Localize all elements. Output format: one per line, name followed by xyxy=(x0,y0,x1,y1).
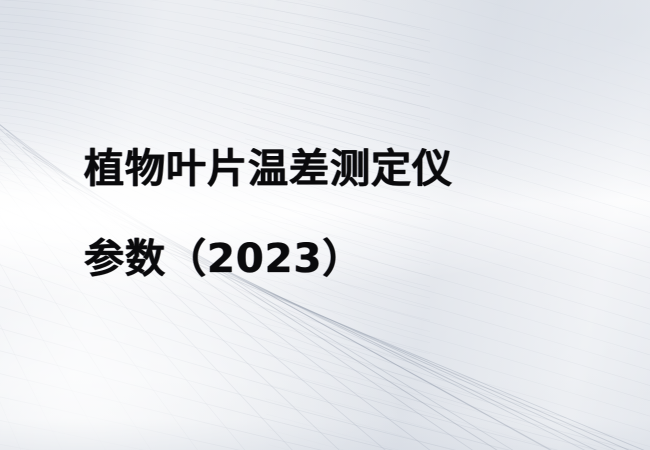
title-banner: 植物叶片温差测定仪 参数（2023） xyxy=(0,0,650,450)
title-line-1: 植物叶片温差测定仪 xyxy=(84,124,624,214)
title-line-2: 参数（2023） xyxy=(84,214,624,304)
page-title: 植物叶片温差测定仪 参数（2023） xyxy=(84,124,624,304)
